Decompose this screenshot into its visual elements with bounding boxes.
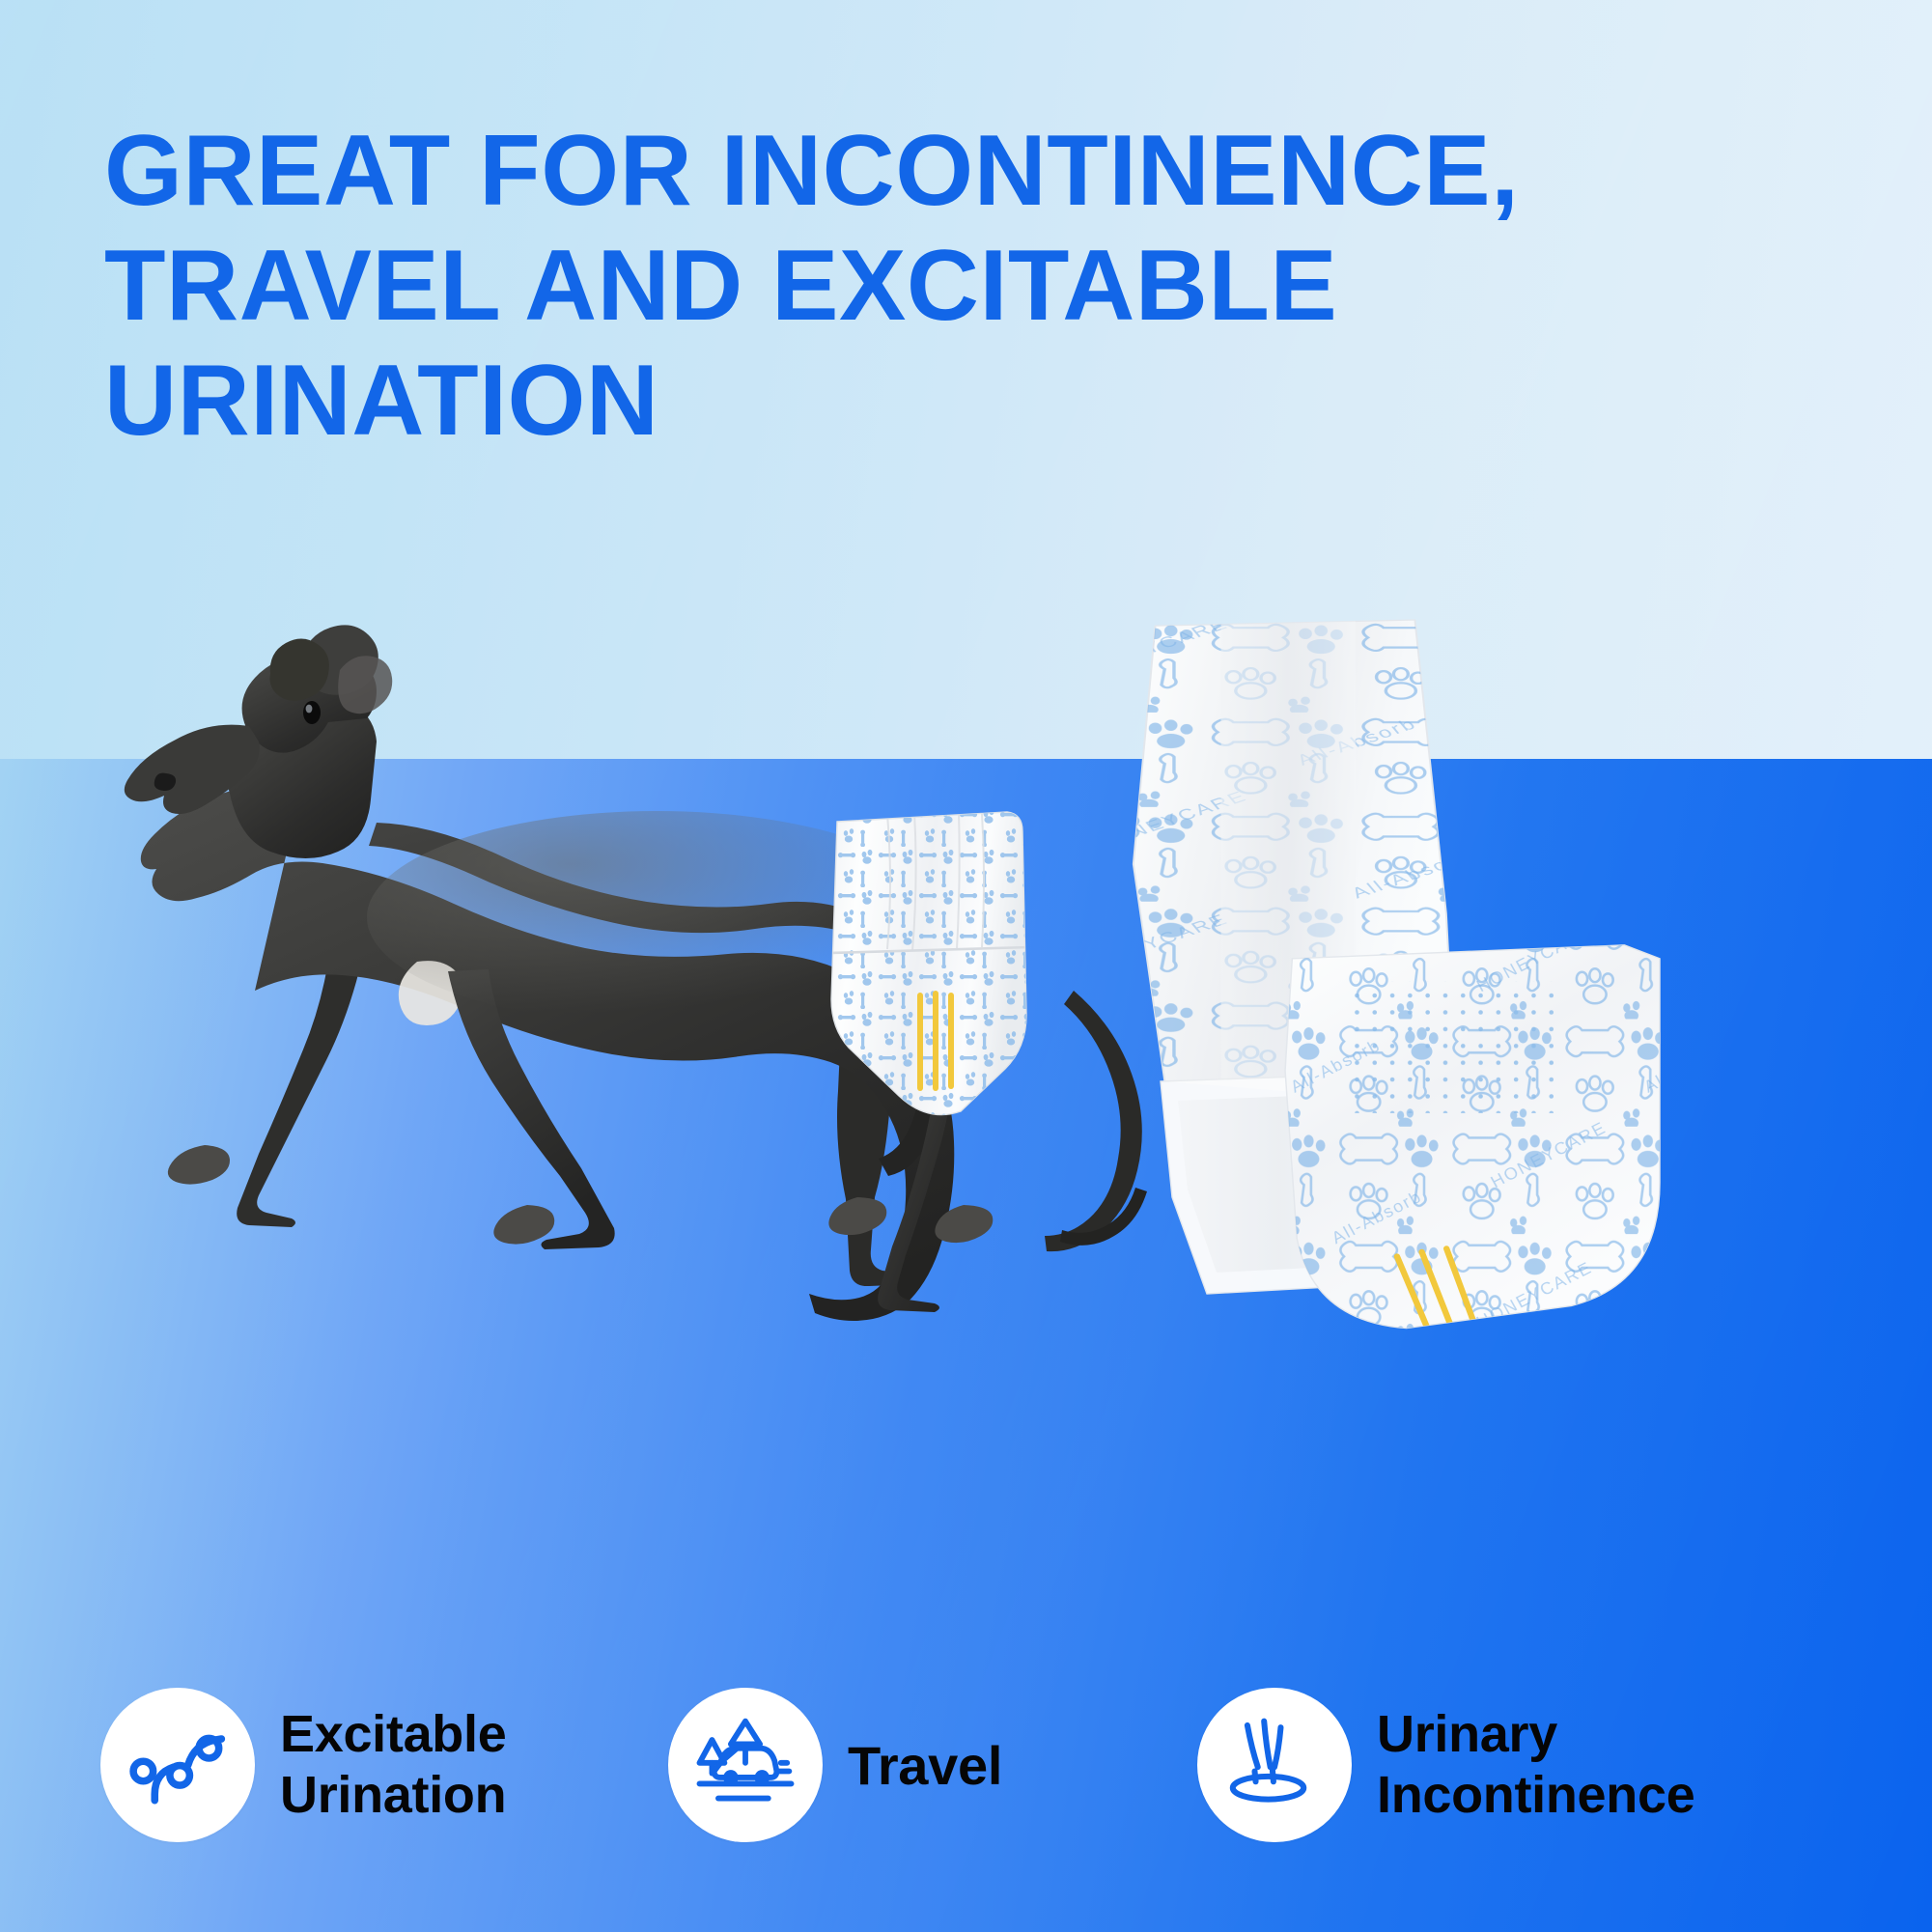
feature-urinary-incontinence[interactable]: Urinary Incontinence xyxy=(1197,1688,1694,1842)
headline-line-1: GREAT FOR INCONTINENCE, xyxy=(104,114,1871,229)
feature-row: Excitable Urination xyxy=(0,1680,1932,1873)
feature-label-travel: Travel xyxy=(848,1735,1002,1796)
headline: GREAT FOR INCONTINENCE, TRAVEL AND EXCIT… xyxy=(104,114,1871,459)
urinary-incontinence-badge xyxy=(1197,1688,1352,1842)
feature-label-excitable-urination: Excitable Urination xyxy=(280,1704,506,1826)
travel-badge xyxy=(668,1688,823,1842)
headline-line-2: TRAVEL AND EXCITABLE xyxy=(104,229,1871,344)
feature-travel[interactable]: Travel xyxy=(668,1688,1002,1842)
travel-car-icon xyxy=(693,1713,798,1817)
feature-excitable-urination[interactable]: Excitable Urination xyxy=(100,1688,506,1842)
dog-photo xyxy=(58,676,1371,1294)
feature-label-urinary-incontinence: Urinary Incontinence xyxy=(1377,1704,1694,1826)
urinary-incontinence-icon xyxy=(1222,1713,1327,1817)
promo-banner: GREAT FOR INCONTINENCE, TRAVEL AND EXCIT… xyxy=(0,0,1932,1932)
excitable-urination-icon xyxy=(126,1713,230,1817)
excitable-urination-badge xyxy=(100,1688,255,1842)
worn-diaper xyxy=(816,806,1067,1125)
headline-line-3: URINATION xyxy=(104,344,1871,459)
